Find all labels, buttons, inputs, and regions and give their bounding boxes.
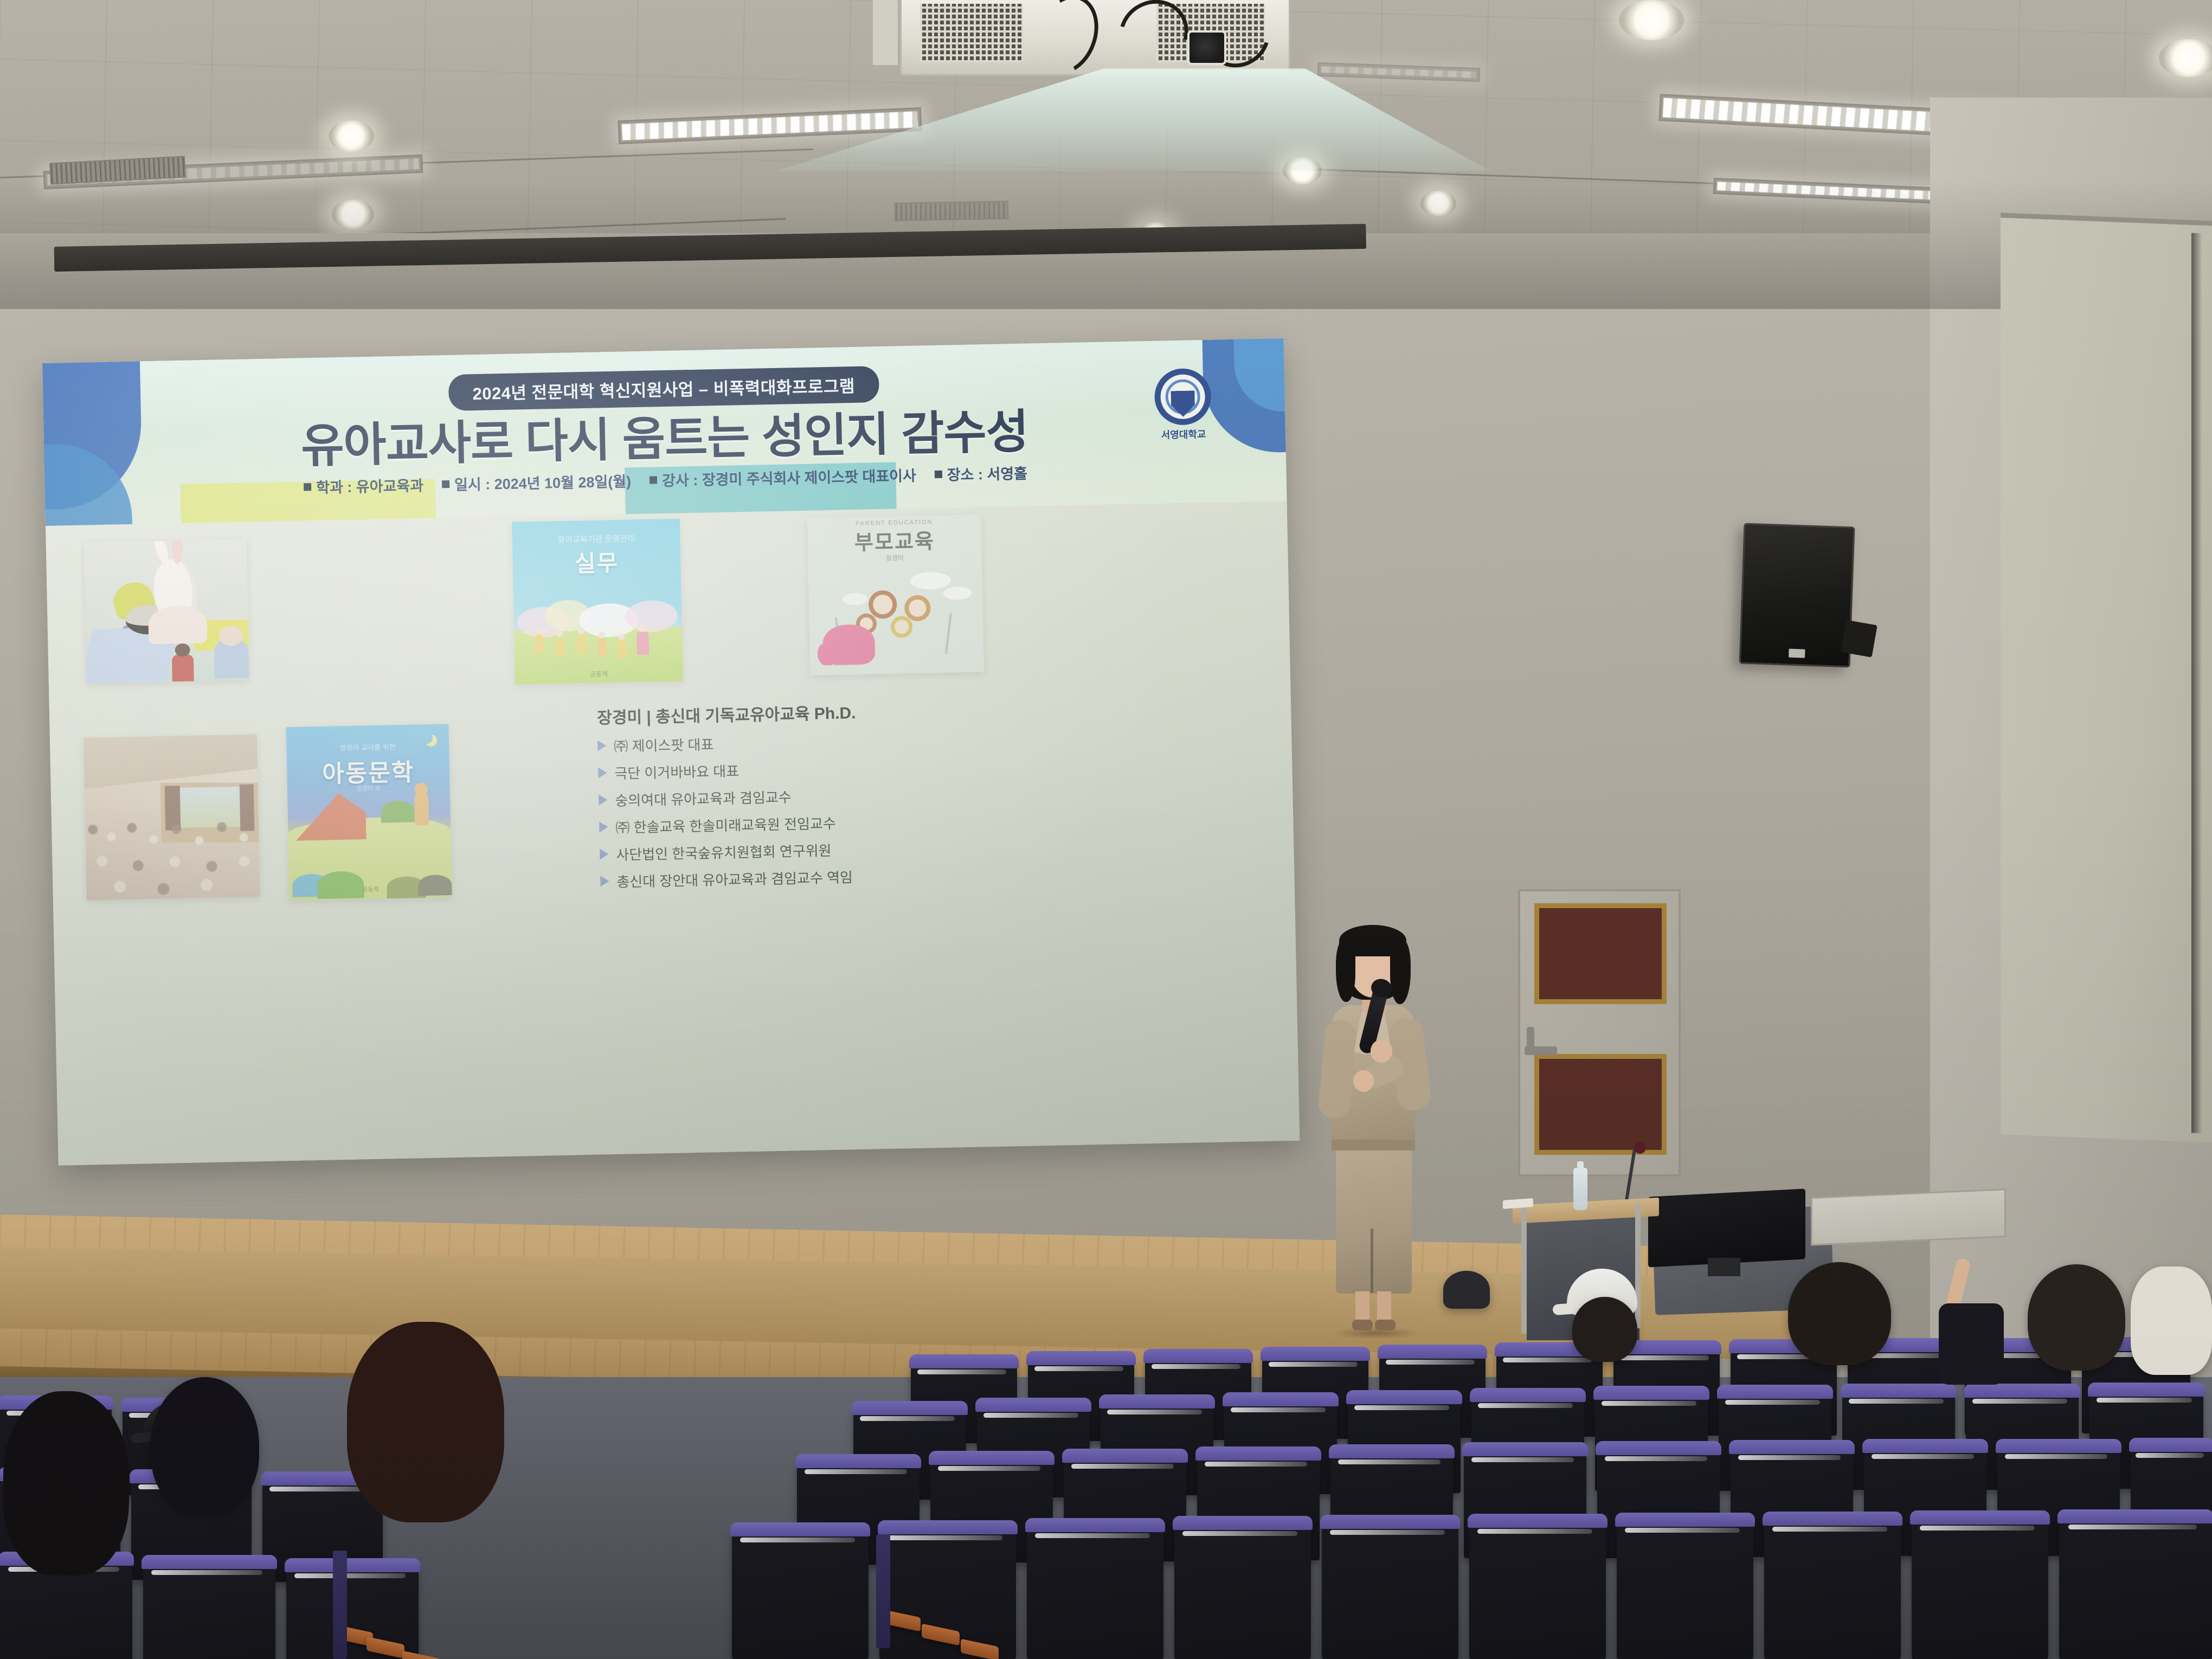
- ceiling-projector: [900, 0, 1290, 76]
- slide-header: 2024년 전문대학 혁신지원사업 – 비폭력대화프로그램 유아교사로 다시 움…: [42, 338, 1287, 526]
- side-door[interactable]: [1518, 889, 1681, 1176]
- bio-item-label: 극단 이거바바요 대표: [614, 760, 739, 783]
- slide-book-cover-silmu: 유아교육기관 운영관리 실무 공동체: [512, 518, 683, 684]
- speaker-badge: [1789, 649, 1805, 658]
- bio-item-label: ㈜ 한솔교육 한솔미래교육원 전임교수: [615, 813, 836, 837]
- audience-person-head: [1443, 1271, 1490, 1309]
- illustration-child: [597, 638, 607, 657]
- seat-side-panel: [876, 1534, 890, 1648]
- seat[interactable]: [732, 1530, 869, 1659]
- projector-lens: [1187, 30, 1226, 65]
- bio-list-item: ㈜ 한솔교육 한솔미래교육원 전임교수: [599, 809, 1023, 838]
- presenter-hand-right: [1371, 1040, 1392, 1063]
- side-monitor: [1648, 1188, 1805, 1267]
- audience-person-head: [151, 1377, 259, 1513]
- slide-meta-datetime: 일시 : 2024년 10월 28일(월): [442, 470, 632, 494]
- illustration-child: [577, 634, 586, 653]
- seat[interactable]: [1174, 1523, 1311, 1659]
- presenter-hand-left: [1353, 1070, 1374, 1092]
- bio-list-item: 숭의여대 유아교육과 겸임교수: [599, 782, 1022, 811]
- slide-book-cover-childrens-literature: 영유아 교사를 위한 아동문학 장경미 외 공동체: [286, 724, 452, 901]
- bio-list-item: ㈜ 제이스팟 대표: [597, 728, 1021, 756]
- speaker-bracket: [1841, 620, 1877, 657]
- audience-person-head: [3, 1391, 129, 1576]
- roller-screen: [2001, 213, 2212, 1142]
- bullet-square-icon: [304, 483, 311, 491]
- ceiling-downlight: [329, 120, 374, 152]
- door-latch: [1527, 1027, 1534, 1052]
- speaker-bio-name: 장경미 | 총신대 기독교유아교육 Ph.D.: [597, 696, 1020, 729]
- speaker-bio-list: ㈜ 제이스팟 대표 극단 이거바바요 대표 숭의여대 유아교육과 겸임교수 ㈜ …: [597, 728, 1024, 892]
- illustration-hill: [381, 800, 415, 822]
- illustration-teacher: [636, 631, 649, 655]
- slide-meta-datetime-label: 일시 : 2024년 10월 28일(월): [454, 470, 632, 494]
- slide-image-rabbit-illustration: [84, 539, 249, 684]
- bio-list-item: 극단 이거바바요 대표: [598, 755, 1021, 783]
- seat-side-panel: [333, 1551, 347, 1659]
- illustration-figure-small: [172, 654, 194, 682]
- bullet-square-icon: [935, 470, 942, 478]
- lectern-microphone-head: [1634, 1142, 1646, 1154]
- seat[interactable]: [1617, 1520, 1753, 1659]
- illustration-dress: [148, 605, 207, 644]
- university-logo: 서영대학교: [1150, 368, 1217, 442]
- audience-person-head: [347, 1322, 504, 1522]
- illustration-child: [535, 634, 544, 653]
- presenter-hair-side-right: [1390, 939, 1411, 1004]
- triangle-bullet-icon: [600, 848, 608, 859]
- bullet-square-icon: [442, 480, 449, 487]
- triangle-bullet-icon: [599, 794, 607, 805]
- seat[interactable]: [1912, 1518, 2048, 1659]
- illustration-fox: [414, 794, 429, 826]
- illustration-figure-right: [214, 640, 249, 678]
- bullet-square-icon: [650, 476, 657, 484]
- audience-person-head: [1788, 1262, 1891, 1365]
- university-emblem-icon: [1154, 368, 1212, 426]
- monitor-stand: [1708, 1258, 1740, 1276]
- illustration-child: [555, 637, 564, 655]
- slide-meta-department-label: 학과 : 유아교육과: [316, 474, 424, 497]
- seat-armrest: [402, 1651, 440, 1659]
- triangle-bullet-icon: [598, 767, 607, 778]
- water-bottle: [1573, 1168, 1587, 1210]
- door-panel-lower: [1534, 1054, 1667, 1155]
- bio-item-label: 사단법인 한국숲유치원협회 연구위원: [616, 840, 832, 864]
- presenter-skirt: [1336, 1148, 1412, 1294]
- seat[interactable]: [1469, 1521, 1606, 1659]
- presenter-belt: [1332, 1140, 1415, 1150]
- audience-person-head: [2028, 1264, 2125, 1371]
- slide-meta-department: 학과 : 유아교육과: [304, 474, 424, 497]
- slide-meta-venue: 장소 : 서영홀: [934, 462, 1027, 485]
- bio-item-label: 숭의여대 유아교육과 겸임교수: [615, 786, 792, 810]
- slide-surface: 2024년 전문대학 혁신지원사업 – 비폭력대화프로그램 유아교사로 다시 움…: [42, 338, 1300, 1166]
- bio-item-label: 총신대 장안대 유아교육과 겸임교수 역임: [616, 866, 853, 891]
- seat[interactable]: [1322, 1522, 1458, 1659]
- wall-speaker: [1739, 523, 1855, 668]
- illustration-child: [617, 640, 626, 658]
- seat[interactable]: [1027, 1526, 1163, 1659]
- triangle-bullet-icon: [597, 740, 606, 751]
- audience-person-torso: [1939, 1303, 2004, 1385]
- slide-speaker-bio: 장경미 | 총신대 기독교유아교육 Ph.D. ㈜ 제이스팟 대표 극단 이거바…: [597, 696, 1024, 899]
- control-panel-board: [1811, 1188, 2006, 1246]
- bio-list-item: 총신대 장안대 유아교육과 겸임교수 역임: [600, 863, 1024, 892]
- seat[interactable]: [1764, 1519, 1901, 1659]
- audience-person-shoulder: [2131, 1266, 2212, 1375]
- slide-meta-venue-label: 장소 : 서영홀: [947, 462, 1027, 485]
- projector-cable: [1025, 0, 1109, 83]
- book-title: 실무: [512, 543, 681, 580]
- lecture-hall-photo: 2024년 전문대학 혁신지원사업 – 비폭력대화프로그램 유아교사로 다시 움…: [0, 0, 2212, 1659]
- roller-screen-shadow: [2191, 233, 2202, 1134]
- bio-list-item: 사단법인 한국숲유치원협회 연구위원: [600, 836, 1023, 865]
- illustration-pink-elephant: [822, 624, 875, 665]
- audience-person-head: [1572, 1297, 1637, 1362]
- presenter-hair-side-left: [1336, 939, 1355, 1002]
- projection-screen: 2024년 전문대학 혁신지원사업 – 비폭력대화프로그램 유아교사로 다시 움…: [42, 338, 1300, 1166]
- slide-photo-auditorium: [83, 734, 260, 900]
- seat[interactable]: [2059, 1517, 2212, 1659]
- seat[interactable]: [143, 1562, 275, 1659]
- bio-item-label: ㈜ 제이스팟 대표: [614, 734, 714, 756]
- projector-vent-grille: [920, 4, 1023, 62]
- door-panel-upper: [1534, 903, 1667, 1004]
- slide-body: 유아교육기관 운영관리 실무 공동체 PA: [46, 501, 1300, 1166]
- slide-book-cover-parent-education: PARENT EDUCATION 부모교육 장경미: [807, 515, 984, 675]
- presenter-skirt-slit: [1371, 1229, 1373, 1293]
- presenter: [1306, 925, 1441, 1337]
- triangle-bullet-icon: [599, 821, 608, 832]
- triangle-bullet-icon: [600, 876, 609, 886]
- university-logo-name: 서영대학교: [1151, 427, 1216, 442]
- photo-overlay: [83, 734, 260, 900]
- projector-mount: [873, 0, 898, 65]
- ceiling-downlight: [1619, 0, 1684, 40]
